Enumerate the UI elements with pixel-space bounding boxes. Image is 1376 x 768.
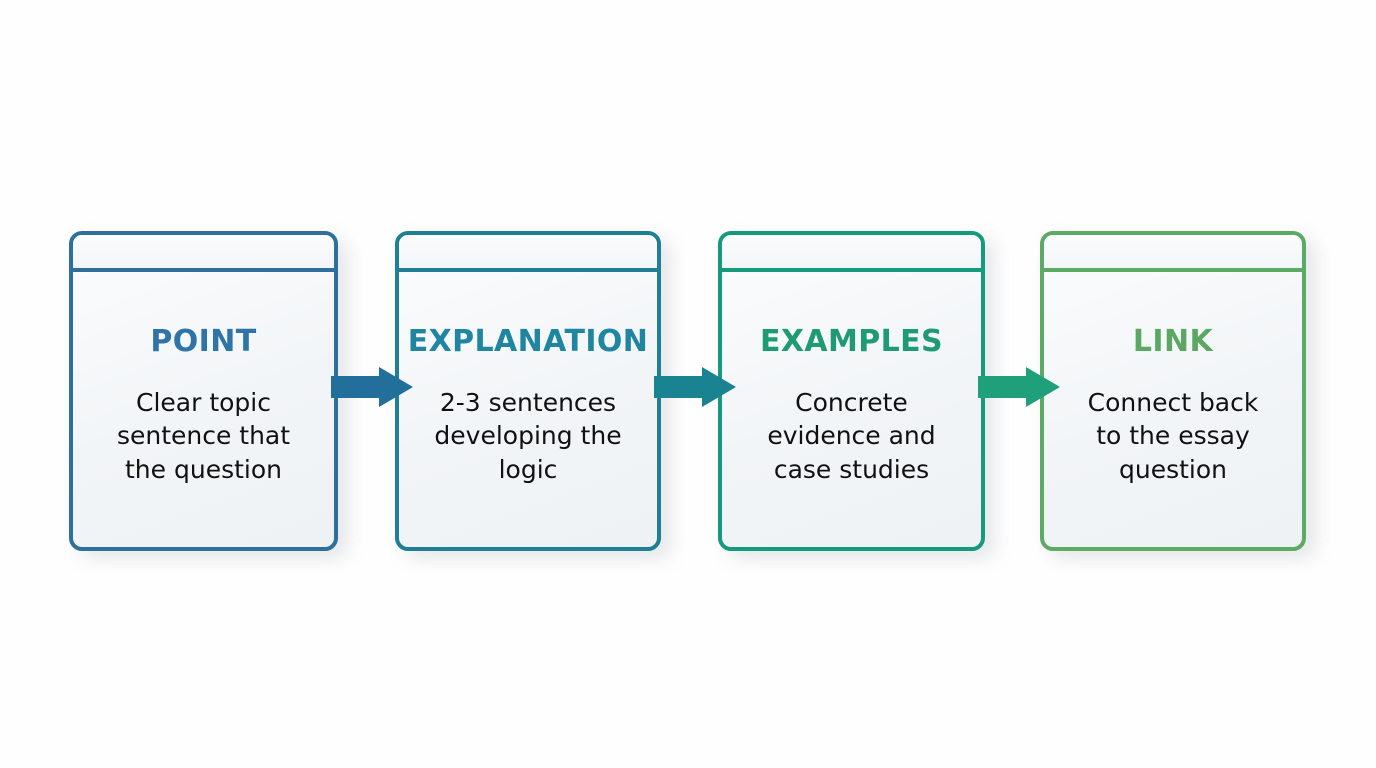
- card-header-strip: [73, 235, 334, 272]
- flow-step-card-explanation[interactable]: EXPLANATION 2-3 sentences developing the…: [395, 231, 661, 551]
- card-body: LINK Connect back to the essay question: [1044, 272, 1302, 547]
- card-description: Clear topic sentence that the question: [117, 386, 290, 486]
- card-description-line: Concrete: [767, 386, 935, 419]
- card-body: POINT Clear topic sentence that the ques…: [73, 272, 334, 547]
- card-title: EXAMPLES: [760, 327, 943, 357]
- card-description: Concrete evidence and case studies: [767, 386, 935, 486]
- card-body: EXAMPLES Concrete evidence and case stud…: [722, 272, 981, 547]
- arrow-right-icon: [654, 367, 736, 407]
- card-header-strip: [722, 235, 981, 272]
- card-description-line: Clear topic: [117, 386, 290, 419]
- card-title: LINK: [1133, 327, 1213, 357]
- card-description-line: question: [1088, 453, 1259, 486]
- card-description: 2-3 sentences developing the logic: [434, 386, 621, 486]
- flow-step-card-examples[interactable]: EXAMPLES Concrete evidence and case stud…: [718, 231, 985, 551]
- card-title: POINT: [150, 327, 256, 357]
- card-header-strip: [399, 235, 657, 272]
- card-description-line: logic: [434, 453, 621, 486]
- card-description-line: Connect back: [1088, 386, 1259, 419]
- card-header-strip: [1044, 235, 1302, 272]
- arrow-right-icon: [978, 367, 1060, 407]
- arrow-right-icon: [331, 367, 413, 407]
- card-body: EXPLANATION 2-3 sentences developing the…: [399, 272, 657, 547]
- flow-step-card-point[interactable]: POINT Clear topic sentence that the ques…: [69, 231, 338, 551]
- flow-step-card-link[interactable]: LINK Connect back to the essay question: [1040, 231, 1306, 551]
- card-description-line: case studies: [767, 453, 935, 486]
- card-description: Connect back to the essay question: [1088, 386, 1259, 486]
- card-title: EXPLANATION: [408, 327, 649, 357]
- card-description-line: evidence and: [767, 419, 935, 452]
- card-description-line: the question: [117, 453, 290, 486]
- process-flow-diagram: POINT Clear topic sentence that the ques…: [0, 0, 1376, 768]
- card-description-line: 2-3 sentences: [434, 386, 621, 419]
- card-description-line: developing the: [434, 419, 621, 452]
- card-description-line: sentence that: [117, 419, 290, 452]
- card-description-line: to the essay: [1088, 419, 1259, 452]
